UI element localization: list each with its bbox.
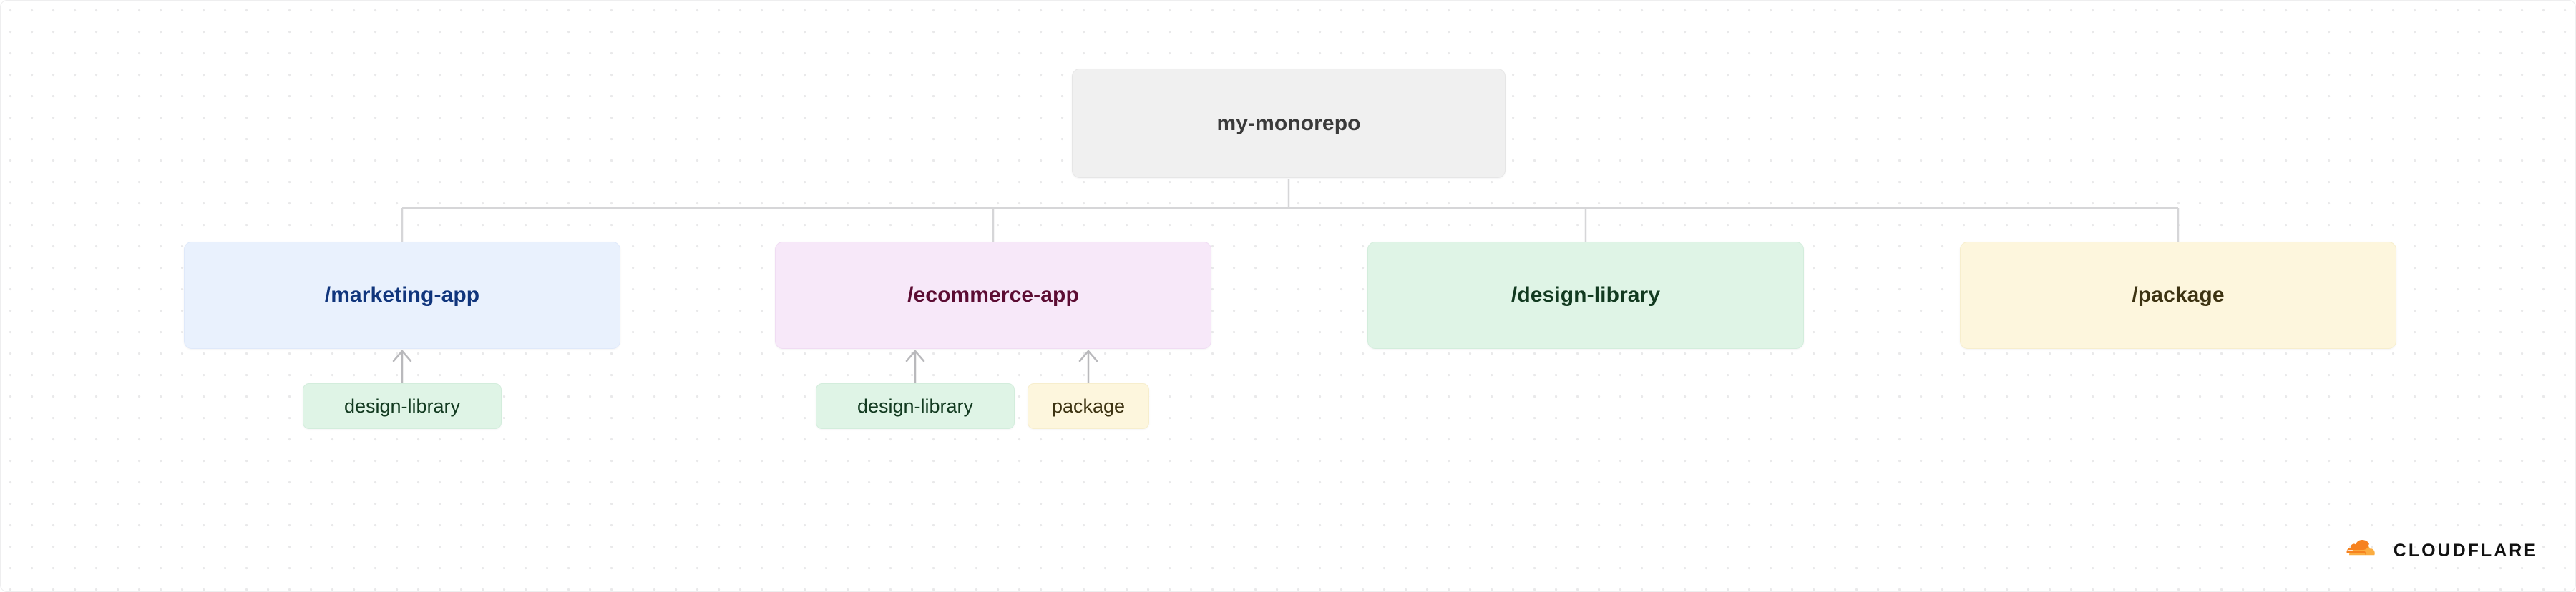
cloudflare-brand: CLOUDFLARE — [2338, 540, 2538, 561]
node-design-library[interactable]: /design-library — [1367, 242, 1804, 349]
chip-ecommerce-package-label: package — [1052, 395, 1125, 418]
cloudflare-wordmark: CLOUDFLARE — [2394, 542, 2538, 560]
node-package[interactable]: /package — [1960, 242, 2396, 349]
node-root[interactable]: my-monorepo — [1072, 69, 1506, 178]
chip-marketing-design-library-label: design-library — [344, 395, 460, 418]
node-ecommerce-app[interactable]: /ecommerce-app — [775, 242, 1211, 349]
node-marketing-app-label: /marketing-app — [325, 282, 479, 308]
arrowhead-ecommerce-design-library — [907, 351, 924, 361]
cloudflare-cloud-icon — [2338, 540, 2384, 561]
arrowhead-ecommerce-package — [1080, 351, 1097, 361]
arrowhead-marketing-design-library — [394, 351, 411, 361]
node-root-label: my-monorepo — [1216, 111, 1360, 137]
node-design-library-label: /design-library — [1511, 282, 1660, 308]
node-package-label: /package — [2132, 282, 2224, 308]
chip-ecommerce-package[interactable]: package — [1028, 383, 1149, 429]
chip-marketing-design-library[interactable]: design-library — [303, 383, 502, 429]
diagram-canvas: my-monorepo /marketing-app /ecommerce-ap… — [0, 0, 2576, 592]
node-ecommerce-app-label: /ecommerce-app — [907, 282, 1079, 308]
node-marketing-app[interactable]: /marketing-app — [184, 242, 620, 349]
chip-ecommerce-design-library[interactable]: design-library — [816, 383, 1015, 429]
chip-ecommerce-design-library-label: design-library — [857, 395, 973, 418]
